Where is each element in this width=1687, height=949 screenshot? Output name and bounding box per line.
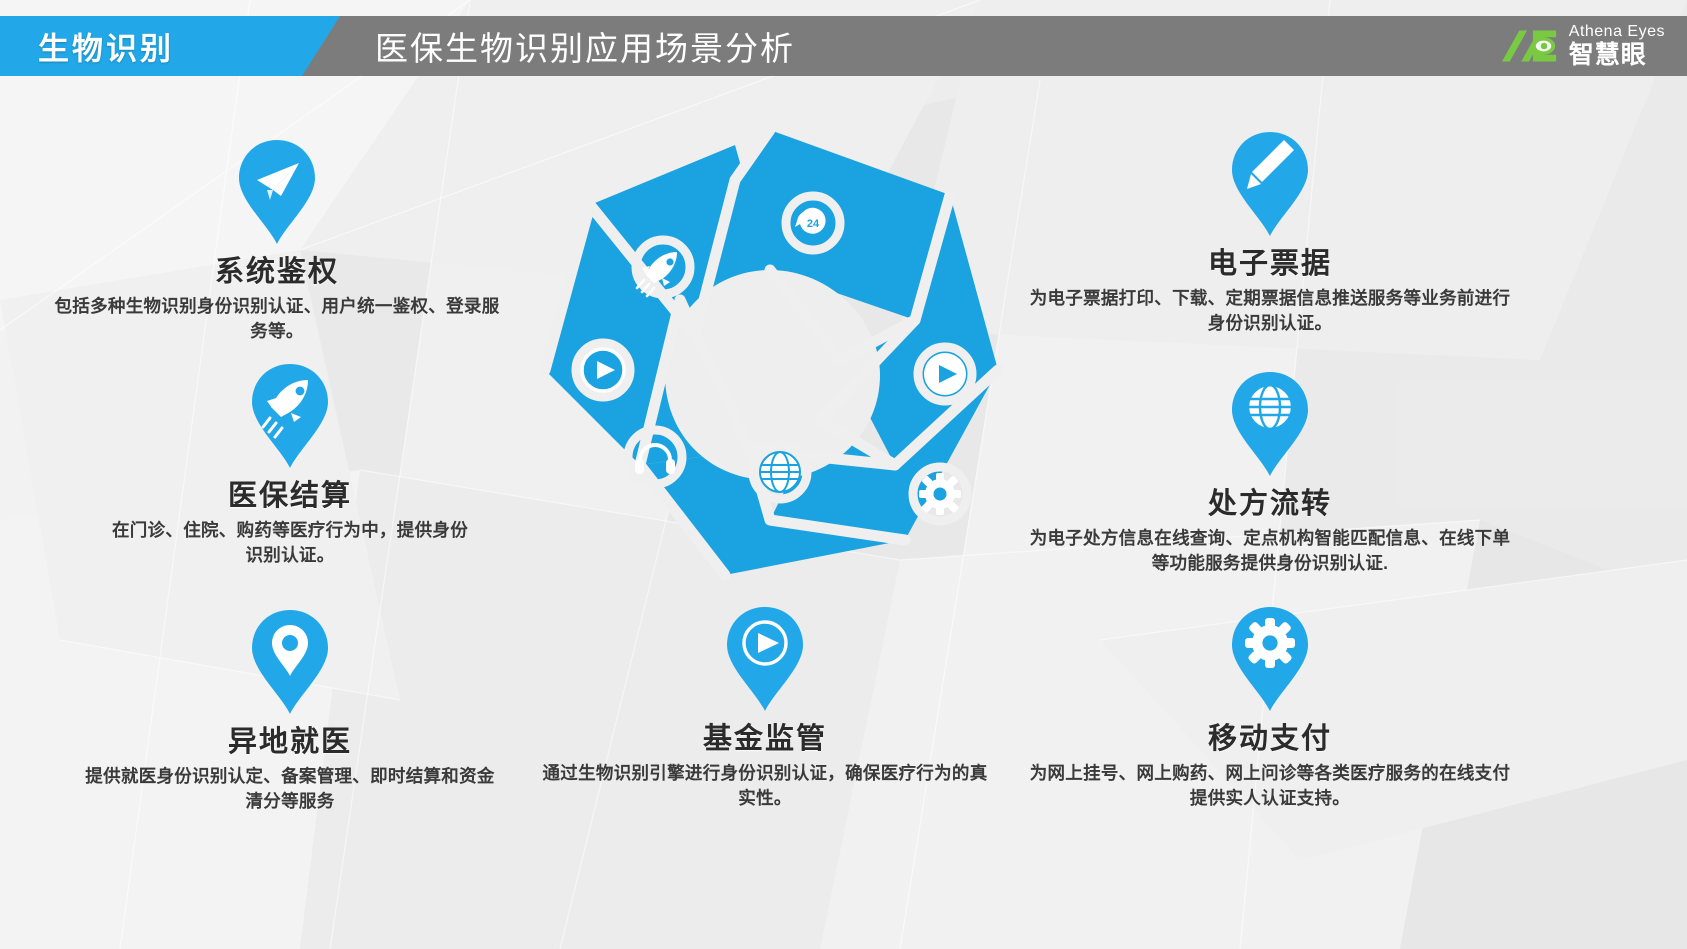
feature-title: 处方流转 [1025,480,1515,522]
feature-prescription-circulation: 处方流转 为电子处方信息在线查询、定点机构智能匹配信息、在线下单等功能服务提供身… [1025,370,1515,576]
feature-description: 为电子处方信息在线查询、定点机构智能匹配信息、在线下单等功能服务提供身份识别认证… [1025,526,1515,576]
feature-description: 为电子票据打印、下载、定期票据信息推送服务等业务前进行身份识别认证。 [1025,286,1515,336]
feature-offsite-treatment: 异地就医 提供就医身份识别认定、备案管理、即时结算和资金清分等服务 [80,608,500,814]
shutter-wheel-diagram: 24 [520,120,1020,590]
logo-english-name: Athena Eyes [1569,24,1665,40]
feature-title: 基金监管 [540,715,990,757]
feature-fund-supervision: 基金监管 通过生物识别引擎进行身份识别认证，确保医疗行为的真实性。 [540,605,990,811]
page-title: 医保生物识别应用场景分析 [375,22,795,70]
wheel-icon-globe [753,445,807,499]
feature-insurance-settlement: 医保结算 在门诊、住院、购药等医疗行为中，提供身份识别认证。 [105,362,475,568]
feature-description: 为网上挂号、网上购药、网上问诊等各类医疗服务的在线支付提供实人认证支持。 [1025,761,1515,811]
wheel-icon-play-right [918,347,972,401]
globe-icon [1230,370,1310,478]
feature-system-auth: 系统鉴权 包括多种生物识别身份识别认证、用户统一鉴权、登录服务等。 [52,138,502,344]
feature-title: 移动支付 [1025,715,1515,757]
logo-chinese-name: 智慧眼 [1569,43,1665,68]
feature-title: 电子票据 [1025,240,1515,282]
play-circle-icon [725,605,805,713]
feature-mobile-payment: 移动支付 为网上挂号、网上购药、网上问诊等各类医疗服务的在线支付提供实人认证支持… [1025,605,1515,811]
feature-electronic-bill: 电子票据 为电子票据打印、下载、定期票据信息推送服务等业务前进行身份识别认证。 [1025,130,1515,336]
feature-description: 通过生物识别引擎进行身份识别认证，确保医疗行为的真实性。 [540,761,990,811]
pencil-icon [1230,130,1310,238]
location-pin-icon [250,608,330,716]
feature-description: 提供就医身份识别认定、备案管理、即时结算和资金清分等服务 [80,764,500,814]
gear-icon [1230,605,1310,713]
feature-title: 医保结算 [105,472,475,514]
feature-title: 异地就医 [80,718,500,760]
brand-logo: Athena Eyes 智慧眼 [1500,24,1665,68]
wheel-icon-gear [913,467,967,521]
feature-title: 系统鉴权 [52,248,502,290]
slide-header: 生物识别 医保生物识别应用场景分析 Athena Eyes 智慧眼 [0,16,1687,76]
feature-description: 在门诊、住院、购药等医疗行为中，提供身份识别认证。 [105,518,475,568]
paper-plane-icon [237,138,317,246]
svg-text:24: 24 [807,218,820,230]
feature-description: 包括多种生物识别身份识别认证、用户统一鉴权、登录服务等。 [52,294,502,344]
ae-monogram-icon [1500,26,1560,66]
rocket-icon [250,362,330,470]
header-category-tag: 生物识别 [38,24,174,69]
